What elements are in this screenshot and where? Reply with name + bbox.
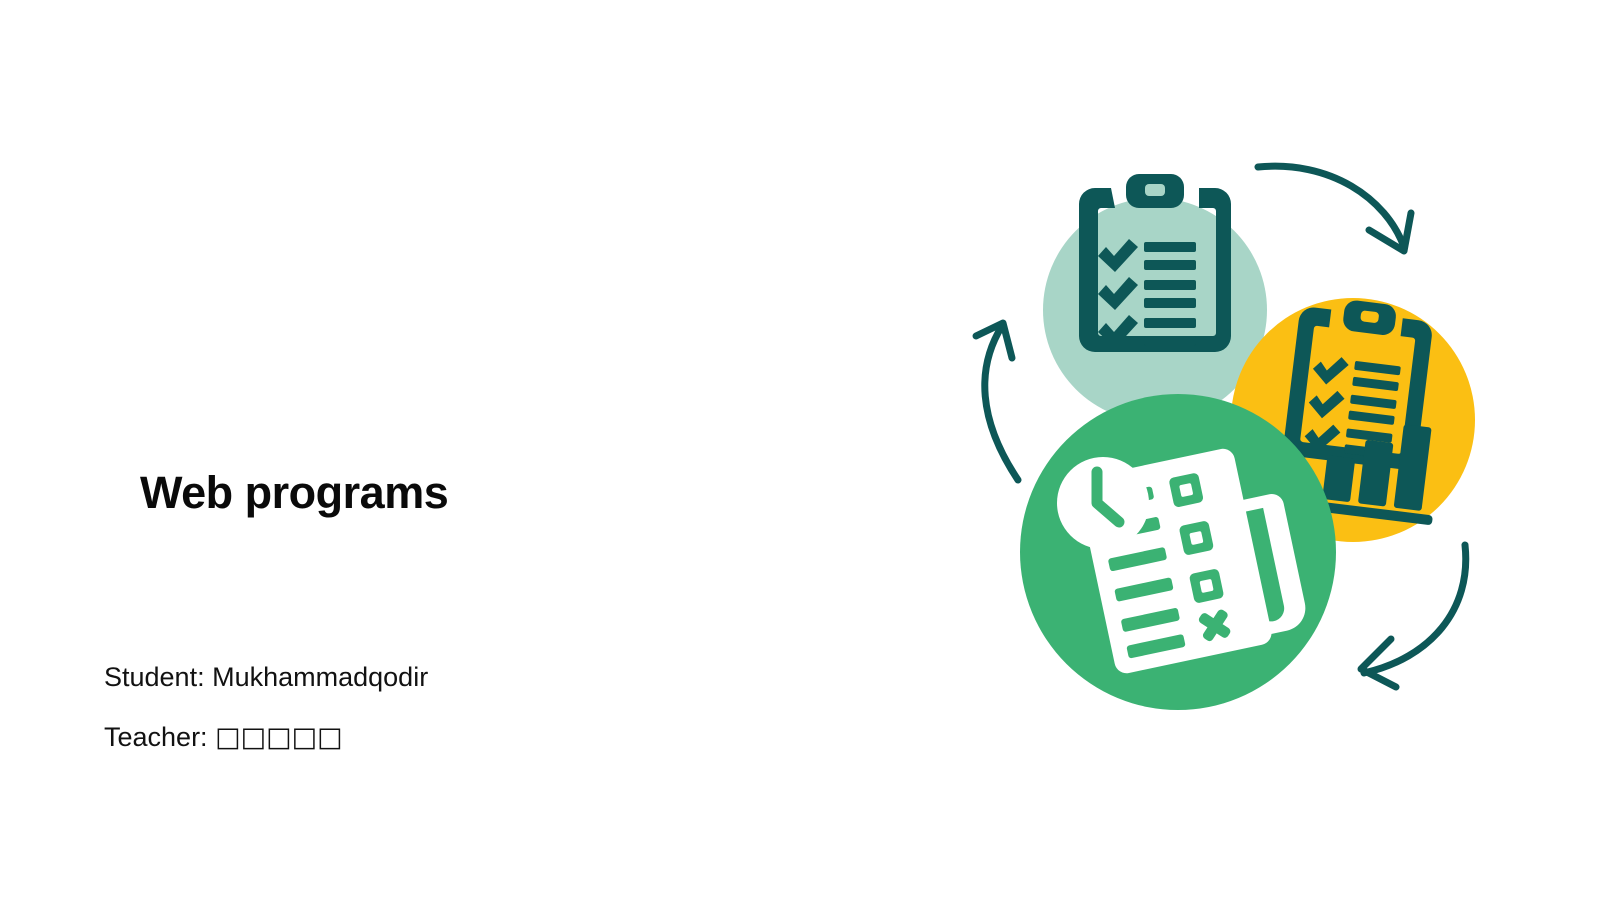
arrow-top-right-icon [1258, 166, 1411, 251]
student-label: Student: [104, 662, 205, 692]
page-title: Web programs [140, 468, 448, 518]
teacher-name-missing-glyphs: □□□□□ [215, 722, 343, 753]
arrow-left-icon [976, 323, 1018, 480]
arrow-bottom-right-icon [1361, 545, 1466, 687]
mint-circle-group [1043, 174, 1267, 422]
teacher-label: Teacher: [104, 722, 208, 752]
student-name: Mukhammadqodir [212, 662, 428, 692]
teacher-line: Teacher: □□□□□ [104, 721, 343, 754]
presentation-slide: Web programs Student: Mukhammadqodir Tea… [0, 0, 1600, 900]
checklist-cycle-illustration [920, 120, 1540, 740]
mint-circle [1043, 198, 1267, 422]
green-circle-group [1020, 394, 1336, 710]
student-line: Student: Mukhammadqodir [104, 661, 428, 693]
clock-icon [1057, 457, 1149, 549]
title-text-block: Web programs Student: Mukhammadqodir Tea… [0, 0, 900, 900]
